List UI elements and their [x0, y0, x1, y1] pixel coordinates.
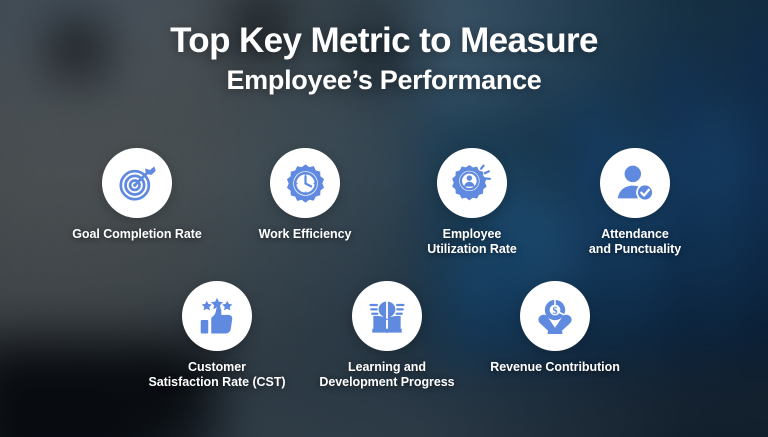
icon-bubble [182, 281, 252, 351]
icon-bubble [352, 281, 422, 351]
metric-item-employee-utilization-rate[interactable]: Employee Utilization Rate [397, 148, 547, 258]
metric-label: Learning and Development Progress [312, 360, 462, 391]
person-check-icon [614, 162, 656, 204]
metric-item-revenue-contribution[interactable]: $ Revenue Contribution [480, 281, 630, 375]
page-title: Top Key Metric to Measure [0, 22, 768, 59]
metric-label: Work Efficiency [230, 227, 380, 242]
metric-item-work-efficiency[interactable]: Work Efficiency [230, 148, 380, 242]
metric-label: Attendance and Punctuality [560, 227, 710, 258]
gear-person-icon [451, 162, 493, 204]
icon-bubble [600, 148, 670, 218]
svg-text:$: $ [552, 306, 557, 317]
hands-money-icon: $ [534, 295, 576, 337]
metric-label: Goal Completion Rate [62, 227, 212, 242]
heading-block: Top Key Metric to Measure Employee’s Per… [0, 22, 768, 96]
metric-label: Customer Satisfaction Rate (CST) [142, 360, 292, 391]
metric-label: Revenue Contribution [480, 360, 630, 375]
icon-bubble [437, 148, 507, 218]
target-arrow-icon [116, 162, 158, 204]
infographic-slide: Top Key Metric to Measure Employee’s Per… [0, 0, 768, 437]
icon-bubble [270, 148, 340, 218]
metric-item-learning-and-development[interactable]: Learning and Development Progress [312, 281, 462, 391]
metric-item-customer-satisfaction-rate[interactable]: Customer Satisfaction Rate (CST) [142, 281, 292, 391]
metric-item-attendance-and-punctuality[interactable]: Attendance and Punctuality [560, 148, 710, 258]
gear-clock-icon [285, 163, 326, 204]
icon-bubble: $ [520, 281, 590, 351]
thumbs-up-stars-icon [196, 295, 238, 337]
book-brain-icon [366, 295, 408, 337]
icon-bubble [102, 148, 172, 218]
metric-item-goal-completion-rate[interactable]: Goal Completion Rate [62, 148, 212, 242]
metric-label: Employee Utilization Rate [397, 227, 547, 258]
page-subtitle: Employee’s Performance [0, 65, 768, 96]
